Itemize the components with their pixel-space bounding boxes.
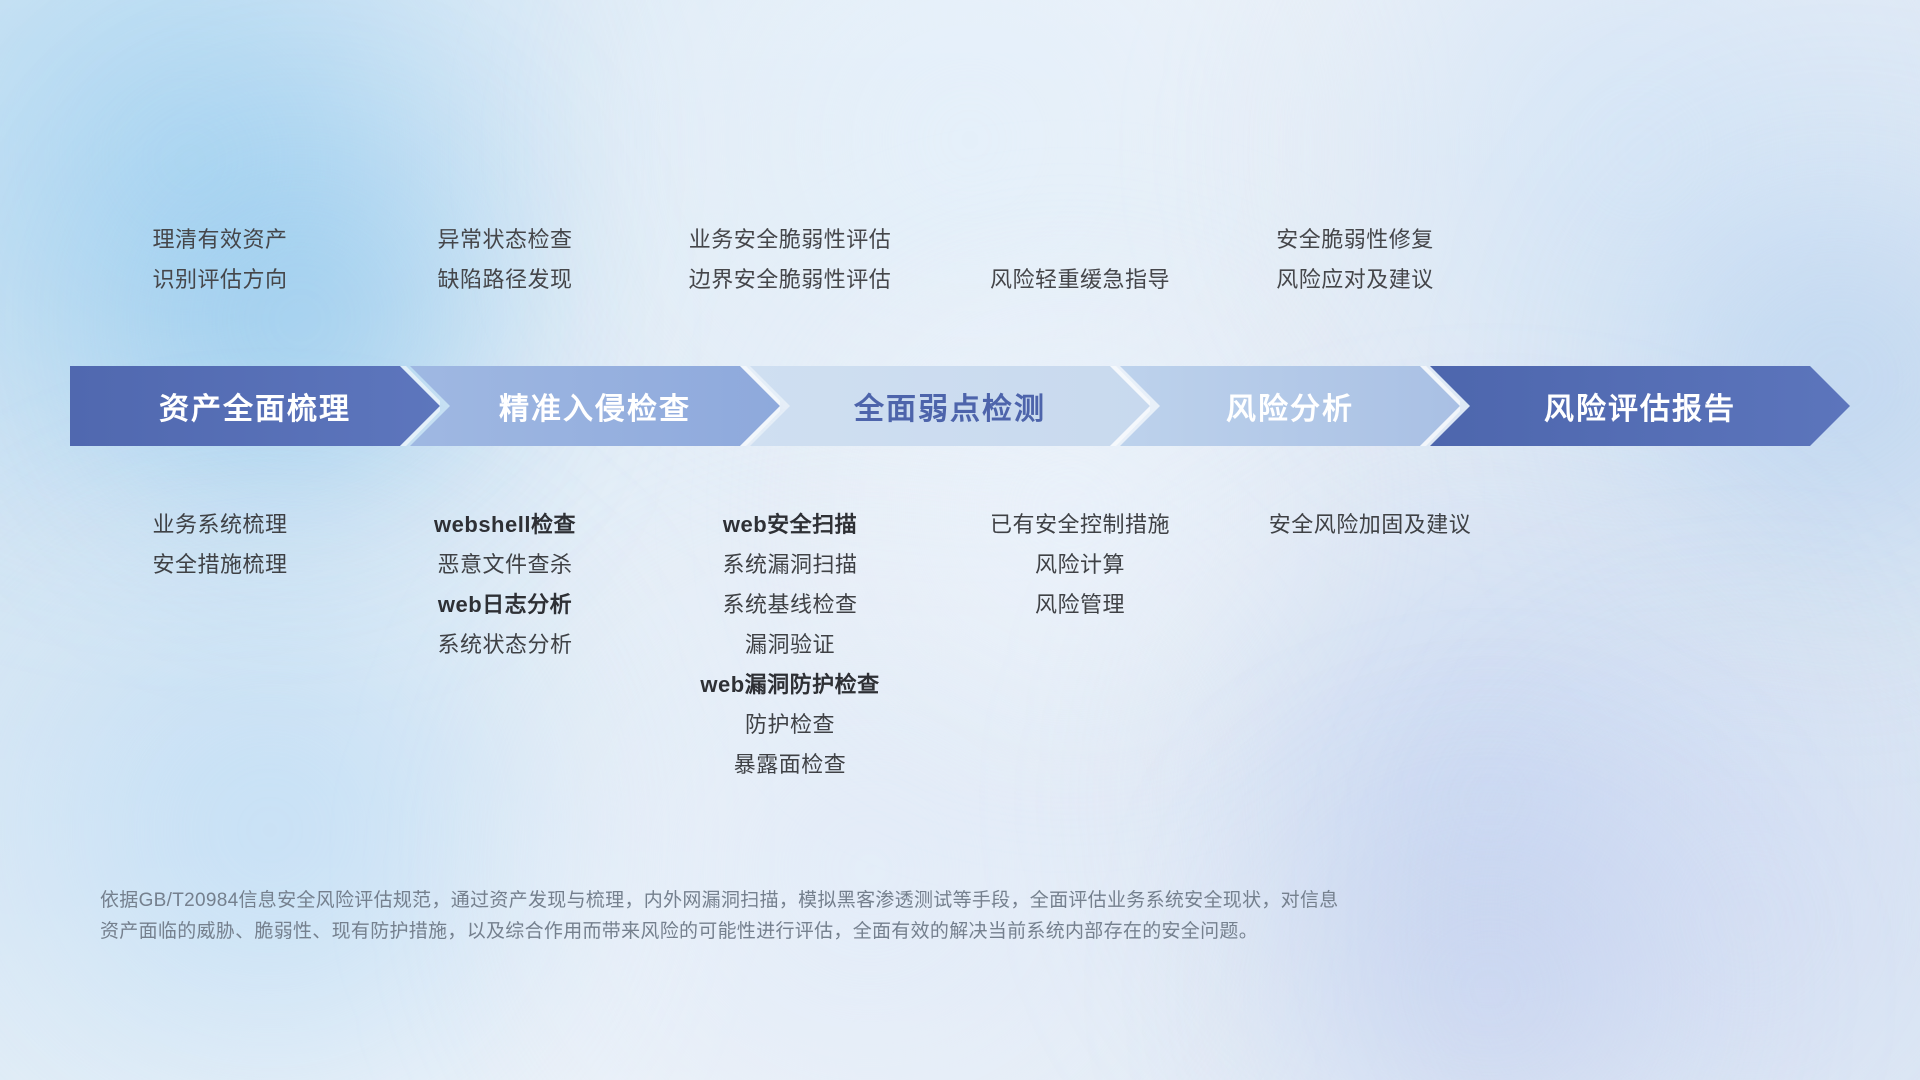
above-group-4: 风险轻重缓急指导 <box>930 180 1230 300</box>
above-group-1: 理清有效资产 识别评估方向 <box>70 180 370 300</box>
above-caption: 风险轻重缓急指导 <box>930 260 1230 300</box>
detail-item: web日志分析 <box>355 585 655 625</box>
chevron-label: 风险评估报告 <box>1544 384 1736 428</box>
detail-item: 系统漏洞扫描 <box>640 545 940 585</box>
detail-item: 恶意文件查杀 <box>355 545 655 585</box>
detail-item: 系统状态分析 <box>355 625 655 665</box>
above-caption: 风险应对及建议 <box>1205 260 1505 300</box>
above-caption: 业务安全脆弱性评估 <box>640 220 940 260</box>
chevron-label: 精准入侵检查 <box>499 384 691 428</box>
above-group-5: 安全脆弱性修复 风险应对及建议 <box>1205 180 1505 300</box>
above-group-3: 业务安全脆弱性评估 边界安全脆弱性评估 <box>640 180 940 300</box>
footer-description: 依据GB/T20984信息安全风险评估规范，通过资产发现与梳理，内外网漏洞扫描，… <box>100 885 1660 947</box>
detail-item: web漏洞防护检查 <box>640 665 940 705</box>
chevron-stage-5[interactable]: 风险评估报告 <box>1430 366 1850 446</box>
above-caption: 异常状态检查 <box>355 220 655 260</box>
chevron-label: 资产全面梳理 <box>159 384 351 428</box>
above-caption: 理清有效资产 <box>70 220 370 260</box>
above-caption: 边界安全脆弱性评估 <box>640 260 940 300</box>
detail-item: web安全扫描 <box>640 505 940 545</box>
detail-item: 已有安全控制措施 <box>930 505 1230 545</box>
footer-line-2: 资产面临的威胁、脆弱性、现有防护措施，以及综合作用而带来风险的可能性进行评估，全… <box>100 916 1660 947</box>
process-chevron-band: 资产全面梳理 精准入侵检查 <box>70 366 1850 446</box>
slide-canvas: 理清有效资产 识别评估方向 异常状态检查 缺陷路径发现 业务安全脆弱性评估 边界… <box>0 0 1920 1080</box>
detail-item: 业务系统梳理 <box>70 505 370 545</box>
chevron-stage-3[interactable]: 全面弱点检测 <box>750 366 1150 446</box>
detail-item: 风险管理 <box>930 585 1230 625</box>
detail-item: 系统基线检查 <box>640 585 940 625</box>
footer-line-1: 依据GB/T20984信息安全风险评估规范，通过资产发现与梳理，内外网漏洞扫描，… <box>100 885 1660 916</box>
above-caption: 识别评估方向 <box>70 260 370 300</box>
above-caption: 缺陷路径发现 <box>355 260 655 300</box>
chevron-label: 全面弱点检测 <box>854 384 1046 428</box>
above-caption: 安全脆弱性修复 <box>1205 220 1505 260</box>
chevron-stage-1[interactable]: 资产全面梳理 <box>70 366 440 446</box>
detail-item: 安全风险加固及建议 <box>1205 505 1535 545</box>
detail-item: 安全措施梳理 <box>70 545 370 585</box>
chevron-stage-4[interactable]: 风险分析 <box>1120 366 1460 446</box>
detail-item: 漏洞验证 <box>640 625 940 665</box>
chevron-stage-2[interactable]: 精准入侵检查 <box>410 366 780 446</box>
detail-item: 防护检查 <box>640 705 940 745</box>
detail-item: 暴露面检查 <box>640 745 940 785</box>
detail-item: 风险计算 <box>930 545 1230 585</box>
detail-item: webshell检查 <box>355 505 655 545</box>
chevron-label: 风险分析 <box>1226 384 1354 428</box>
above-group-2: 异常状态检查 缺陷路径发现 <box>355 180 655 300</box>
